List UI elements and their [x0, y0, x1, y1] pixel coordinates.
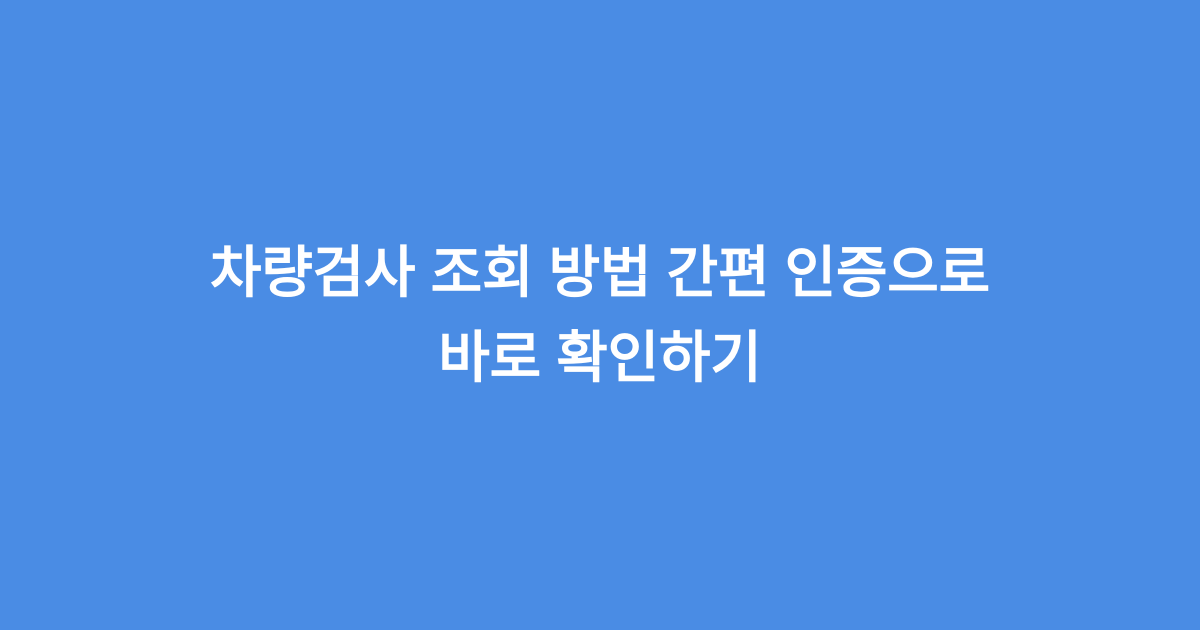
- page-title: 차량검사 조회 방법 간편 인증으로 바로 확인하기: [210, 230, 990, 400]
- headline-container: 차량검사 조회 방법 간편 인증으로 바로 확인하기: [90, 230, 1110, 400]
- og-share-card: 차량검사 조회 방법 간편 인증으로 바로 확인하기: [0, 0, 1200, 630]
